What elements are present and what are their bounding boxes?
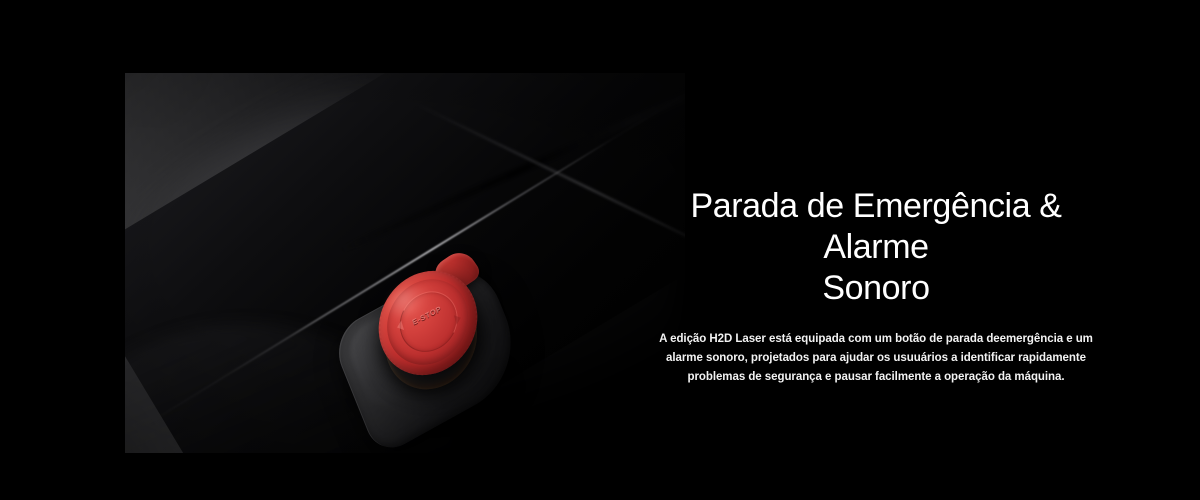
emergency-stop-button-assembly: E-STOP — [337, 233, 527, 433]
feature-title: Parada de Emergência & Alarme Sonoro — [640, 186, 1112, 308]
feature-description: A edição H2D Laser está equipada com um … — [642, 330, 1110, 386]
product-photo: E-STOP — [125, 73, 685, 453]
feature-copy-block: Parada de Emergência & Alarme Sonoro A e… — [640, 186, 1112, 386]
emergency-stop-feature-section: E-STOP Parada de Emergência & Alarme Son… — [0, 0, 1200, 500]
emergency-stop-image-panel: E-STOP — [125, 73, 685, 453]
